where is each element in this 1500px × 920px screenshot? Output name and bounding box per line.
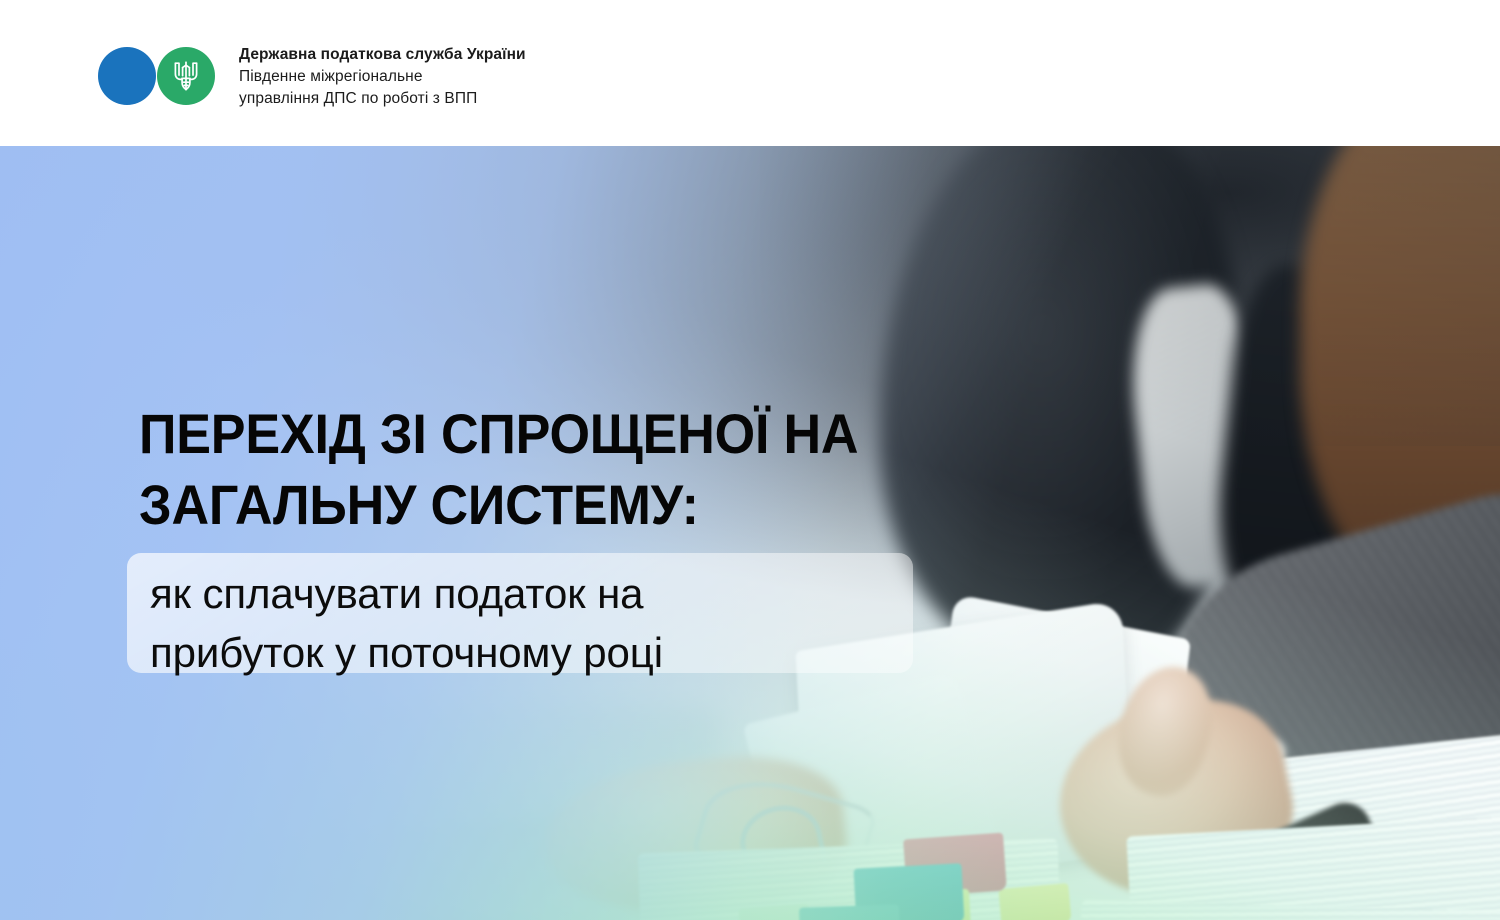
hero-headline: ПЕРЕХІД ЗІ СПРОЩЕНОЇ НА ЗАГАЛЬНУ СИСТЕМУ… xyxy=(139,398,939,540)
hero-banner: ПЕРЕХІД ЗІ СПРОЩЕНОЇ НА ЗАГАЛЬНУ СИСТЕМУ… xyxy=(0,146,1500,920)
org-line-1: Державна податкова служба України xyxy=(239,44,526,66)
site-header: Державна податкова служба України Півден… xyxy=(0,0,1500,146)
org-name-block: Державна податкова служба України Півден… xyxy=(239,44,526,110)
blue-circle-icon xyxy=(98,47,156,105)
poster-root: Державна податкова служба України Півден… xyxy=(0,0,1500,920)
org-line-2: Південне міжрегіональне xyxy=(239,66,526,88)
header-brand[interactable]: Державна податкова служба України Півден… xyxy=(98,44,526,110)
dps-logo[interactable] xyxy=(98,47,215,105)
ukraine-trident-icon xyxy=(157,47,215,105)
org-line-3: управління ДПС по роботі з ВПП xyxy=(239,88,526,110)
hero-subheadline: як сплачувати податок на прибуток у пото… xyxy=(150,564,930,682)
